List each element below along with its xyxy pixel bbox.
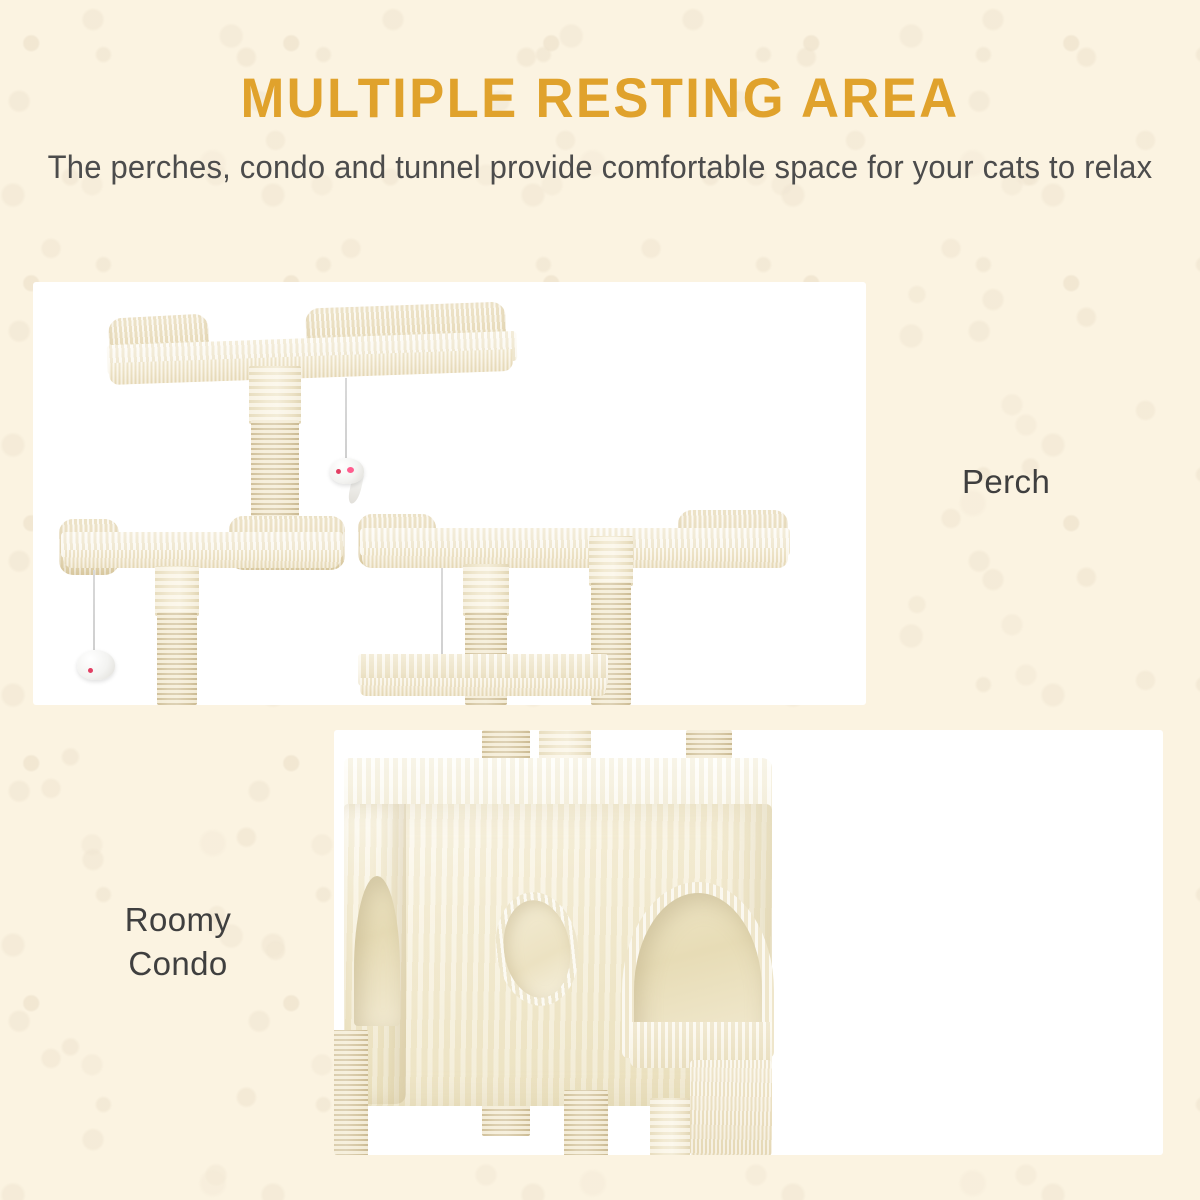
right-perch-edge: [362, 548, 788, 568]
condo-lower-post-center: [564, 1090, 608, 1155]
condo-lower-post-right: [650, 1098, 690, 1155]
left-toy-mouse: [77, 650, 115, 680]
callout-label-perch: Perch: [962, 460, 1050, 504]
page-title: MULTIPLE RESTING AREA: [36, 0, 1164, 126]
left-toy-mouse-nose: [88, 668, 93, 673]
condo-lower-post-left: [334, 1030, 368, 1155]
toy-string: [345, 378, 347, 458]
page-subtitle: The perches, condo and tunnel provide co…: [0, 125, 1200, 190]
left-perch-edge: [63, 550, 341, 568]
left-post-sisal: [157, 612, 197, 705]
left-post-plush-collar: [155, 566, 199, 616]
toy-mouse-nose: [336, 469, 341, 474]
base-platform-edge: [360, 678, 606, 696]
right-post-a-plush-collar: [463, 564, 509, 616]
left-toy-string: [93, 570, 95, 650]
toy-mouse-eye: [347, 467, 354, 473]
right-toy-string: [441, 568, 443, 668]
center-post-plush-collar: [249, 366, 301, 424]
photo-panel-condo: [334, 730, 1163, 1155]
header: MULTIPLE RESTING AREA The perches, condo…: [0, 0, 1200, 189]
condo-bottom-platform: [690, 1060, 772, 1155]
callout-label-condo: Roomy Condo: [78, 898, 278, 985]
promo-graphic: MULTIPLE RESTING AREA The perches, condo…: [0, 0, 1200, 1200]
right-post-b-plush-collar: [589, 536, 633, 586]
photo-panel-perches: [33, 282, 866, 705]
